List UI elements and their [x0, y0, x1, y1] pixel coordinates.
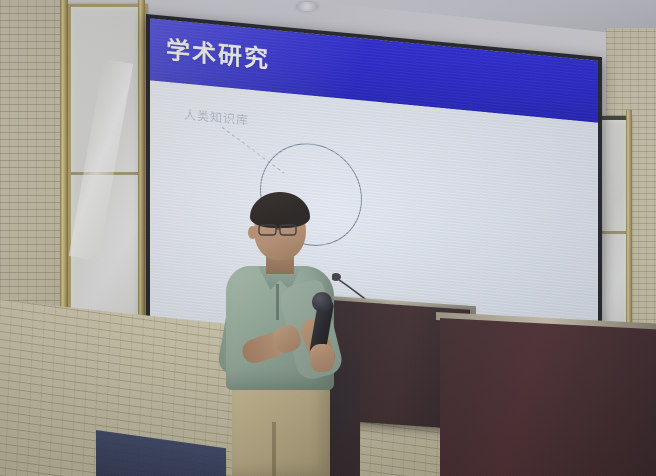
right-gold-trim: [626, 110, 632, 356]
shirt-placket: [276, 284, 279, 320]
microphone-head: [312, 292, 332, 312]
ear: [248, 226, 257, 239]
eyeglasses-icon: [258, 222, 304, 240]
wooden-desk: [440, 318, 656, 476]
right-hand: [310, 344, 334, 372]
left-frosted-light-panel: [68, 4, 148, 354]
speaker-person: [214, 186, 344, 476]
slide-title: 学术研究: [166, 30, 270, 75]
ceiling-light-fixture: [296, 2, 318, 11]
trouser-seam: [272, 422, 276, 476]
trousers: [232, 382, 330, 476]
lecture-hall-photo: 学术研究 人类知识库 中国科学院 计算技术研究所: [0, 0, 656, 476]
